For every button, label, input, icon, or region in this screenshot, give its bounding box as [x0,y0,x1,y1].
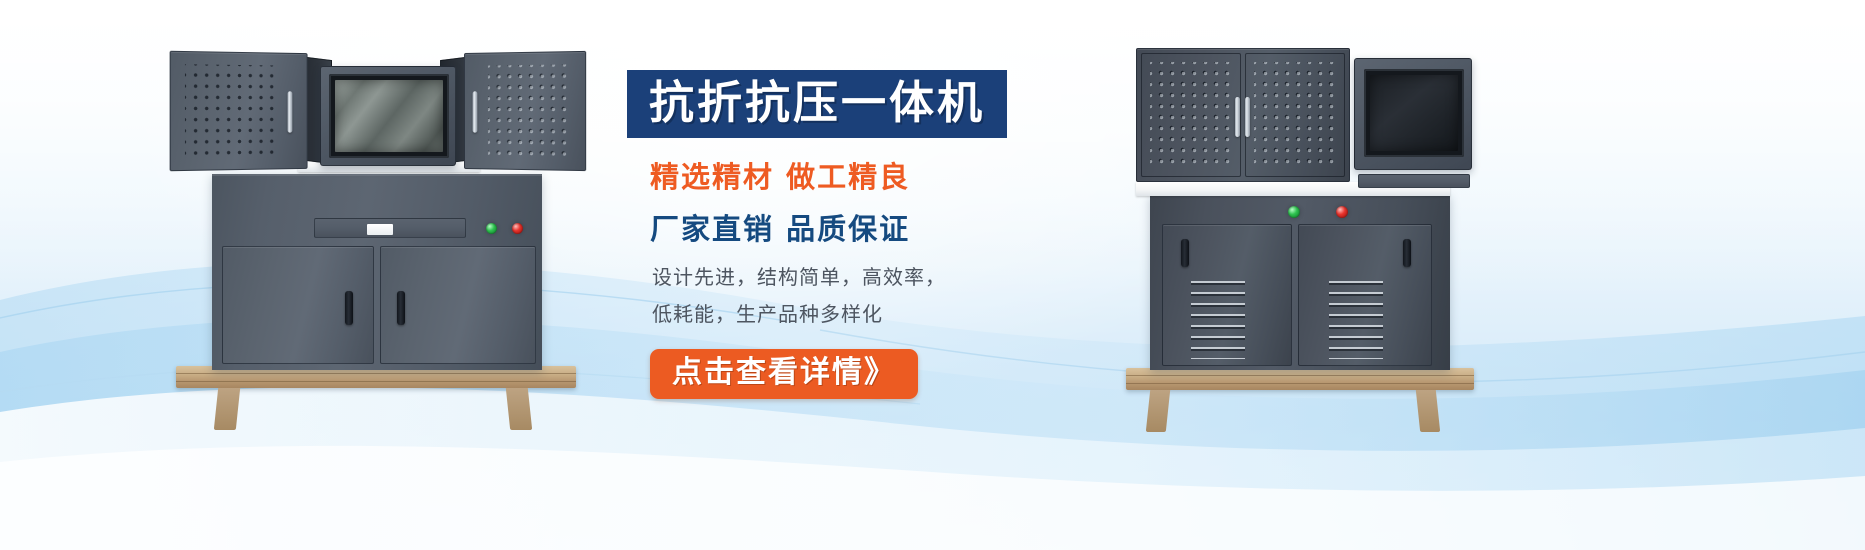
view-details-button[interactable]: 点击查看详情》 [650,349,918,399]
right-green-indicator-light[interactable] [1288,206,1300,218]
right-control-drawer[interactable] [1358,174,1470,188]
left-upper-right-door-handle[interactable] [473,91,478,132]
banner-copy-block: 抗折抗压一体机 精选精材 做工精良 厂家直销 品质保证 设计先进，结构简单，高效… [620,70,1120,399]
left-monitor-bezel [329,74,449,158]
left-pallet-leg [506,388,532,430]
left-monitor-case [320,66,456,166]
left-upper-right-perforated-door[interactable] [464,51,586,171]
right-monitor-screen[interactable] [1370,75,1458,151]
right-upper-cabinet-frame [1136,48,1350,182]
left-pallet-leg [214,388,240,430]
right-lower-left-door-handle[interactable] [1181,239,1189,267]
right-monitor-case [1354,58,1472,170]
right-wooden-pallet [1126,368,1474,390]
description-line-2: 低耗能，生产品种多样化 [652,298,1120,327]
right-lower-right-louver-vents [1329,281,1383,359]
banner-title: 抗折抗压一体机 [649,76,985,129]
left-lower-left-cabinet-door[interactable] [222,246,374,364]
view-details-button-label: 点击查看详情》 [672,355,896,390]
title-banner: 抗折抗压一体机 [627,70,1007,138]
right-red-indicator-light[interactable] [1336,206,1348,218]
description-line-1: 设计先进，结构简单，高效率， [652,261,1120,290]
left-lower-right-cabinet-door[interactable] [380,246,536,364]
left-lower-left-door-handle[interactable] [345,291,353,325]
left-upper-left-perforated-door[interactable] [170,51,308,171]
right-monitor-bezel [1364,69,1464,157]
right-lower-left-louver-vents [1191,281,1245,359]
headline-navy: 厂家直销 品质保证 [650,206,1120,248]
left-control-drawer[interactable] [314,218,466,238]
right-pallet-leg [1146,390,1170,432]
left-red-indicator-light[interactable] [512,223,523,234]
right-upper-left-perforated-door[interactable] [1141,53,1241,177]
left-drawer-label [367,224,393,235]
headline-orange: 精选精材 做工精良 [650,154,1120,196]
left-upper-left-perforation-pattern [185,64,280,157]
left-lower-right-door-handle[interactable] [397,291,405,325]
left-upper-left-door-handle[interactable] [288,91,293,132]
right-upper-right-door-handle[interactable] [1245,97,1250,137]
left-upper-right-perforation-pattern [488,64,571,157]
right-upper-right-perforation-pattern [1254,62,1336,168]
right-lower-left-vented-door[interactable] [1162,224,1292,366]
right-lower-right-door-handle[interactable] [1403,239,1411,267]
right-machine [1118,42,1488,432]
left-machine [168,46,588,431]
right-upper-left-perforation-pattern [1150,62,1232,168]
right-pallet-leg [1416,390,1440,432]
left-monitor-screen[interactable] [335,80,443,152]
right-upper-right-perforated-door[interactable] [1245,53,1345,177]
right-upper-left-door-handle[interactable] [1235,97,1240,137]
right-lower-right-vented-door[interactable] [1298,224,1432,366]
left-green-indicator-light[interactable] [486,223,497,234]
promo-banner: 抗折抗压一体机 精选精材 做工精良 厂家直销 品质保证 设计先进，结构简单，高效… [0,0,1865,550]
